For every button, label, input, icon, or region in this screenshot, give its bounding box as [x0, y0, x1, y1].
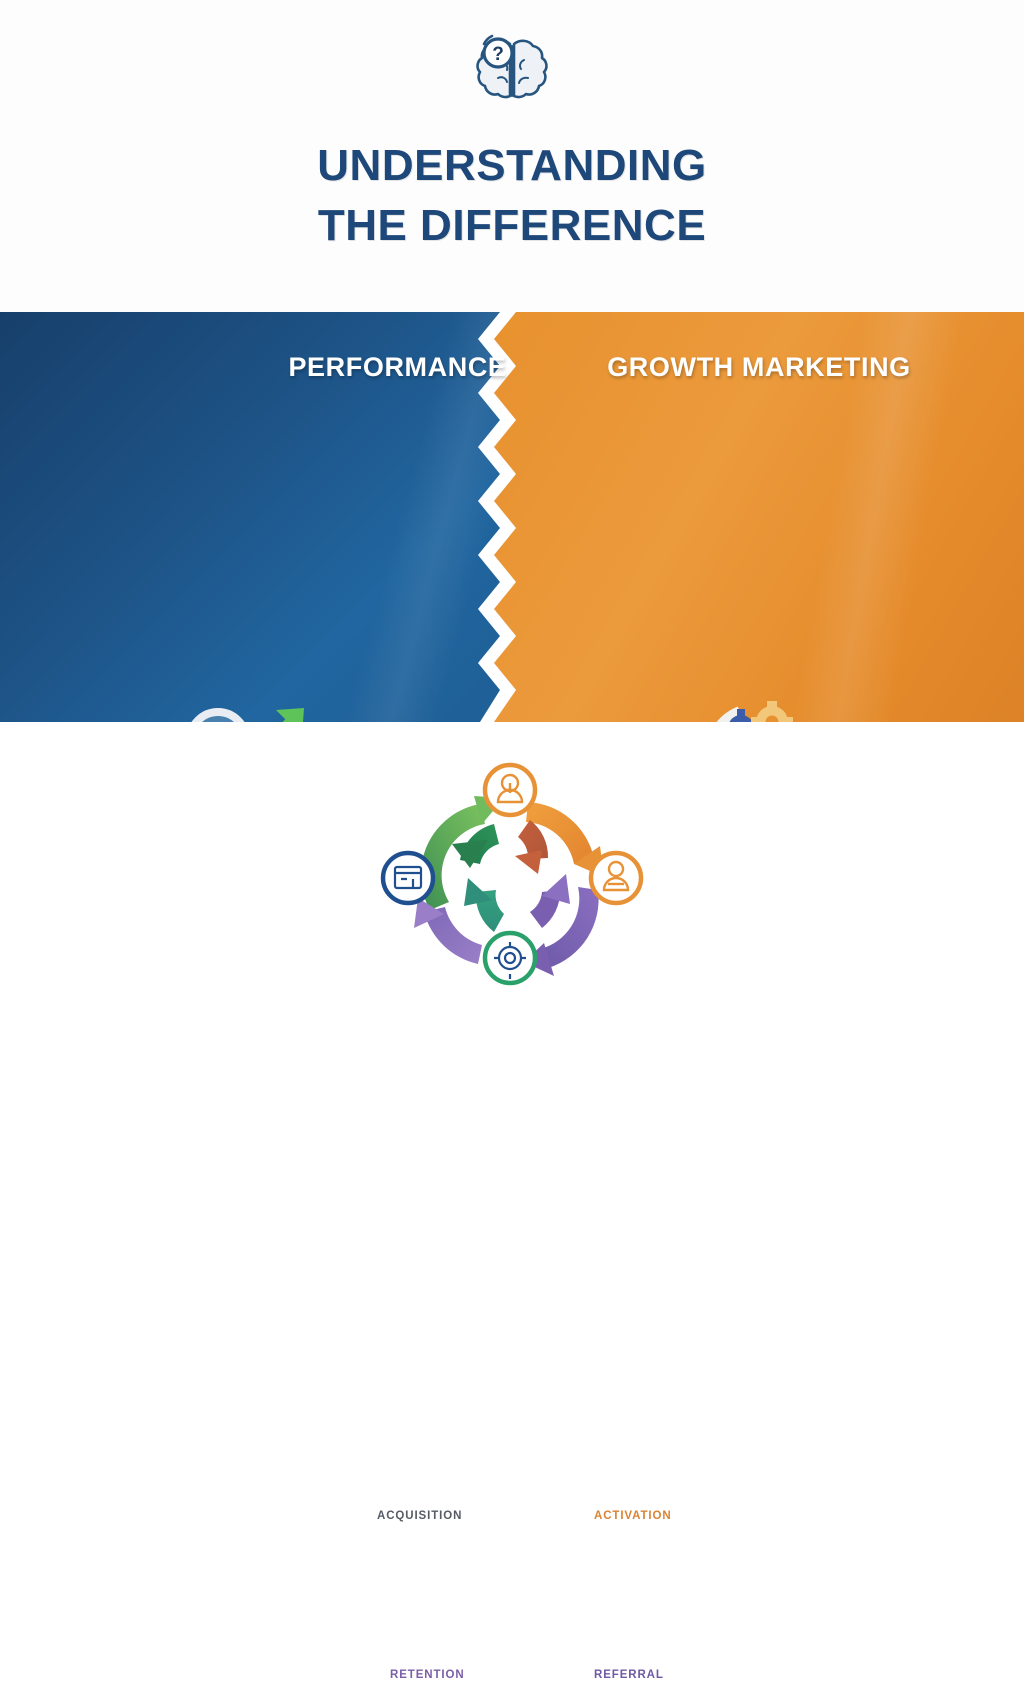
brain-question-icon: ? [462, 22, 562, 122]
title-line-2: THE DIFFERENCE [0, 196, 1024, 256]
loop-node-retention [383, 853, 433, 903]
loop-label-activation: ACTIVATION [594, 1510, 672, 1522]
loop-label-referral: REFERRAL [594, 1669, 664, 1681]
growth-loop-section: ACQUISITION ACTIVATION REFERRAL RETENTIO… [0, 722, 1024, 1024]
loop-label-acquisition: ACQUISITION [377, 1510, 462, 1522]
loop-node-referral [485, 933, 535, 983]
panel-right-title: GROWTH MARKETING [494, 352, 1024, 383]
loop-label-retention: RETENTION [390, 1669, 465, 1681]
svg-text:?: ? [492, 44, 504, 65]
title-line-1: UNDERSTANDING [317, 141, 706, 190]
infographic-root: ? UNDERSTANDING THE DIFFERENCE PERFORMAN… [0, 0, 1024, 1024]
page-title: UNDERSTANDING THE DIFFERENCE [0, 136, 1024, 256]
comparison-panels: PERFORMANCE MARKETING $ [0, 312, 1024, 722]
loop-node-activation [591, 853, 641, 903]
loop-node-acquisition [485, 765, 535, 815]
growth-loop-diagram [352, 762, 672, 997]
header-section: ? UNDERSTANDING THE DIFFERENCE [0, 0, 1024, 312]
